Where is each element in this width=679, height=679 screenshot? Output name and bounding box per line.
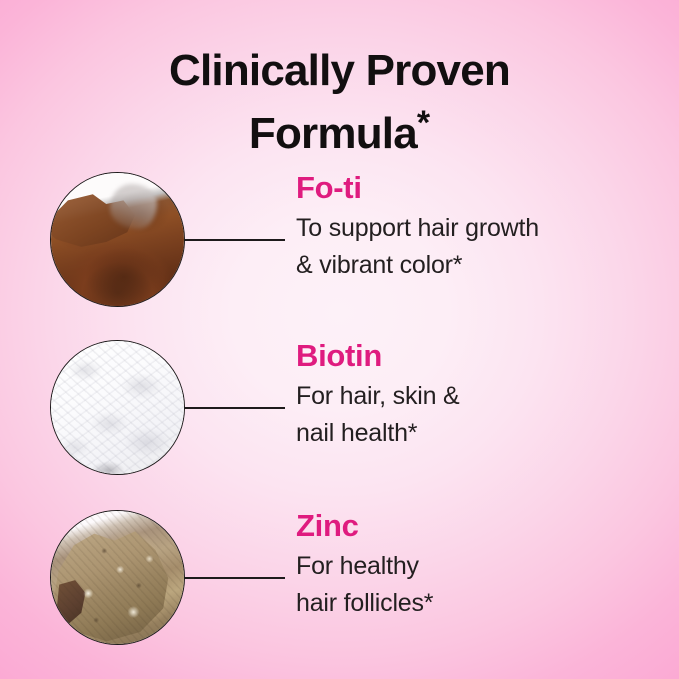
foti-text-block: Fo-ti To support hair growth & vibrant c…	[296, 170, 656, 284]
zinc-mineral-photo	[50, 510, 185, 645]
title-asterisk: *	[417, 104, 430, 142]
connector-line-biotin	[184, 407, 285, 409]
title-line-2-text: Formula	[249, 109, 417, 158]
ingredient-name-zinc: Zinc	[296, 508, 656, 544]
biotin-desc-line-2: nail health*	[296, 415, 656, 452]
ingredient-desc-zinc: For healthy hair follicles*	[296, 548, 656, 622]
title-line-1: Clinically Proven	[60, 44, 619, 97]
ingredient-row-biotin: Biotin For hair, skin & nail health*	[0, 338, 679, 478]
ingredient-infographic: Clinically Proven Formula* Fo-ti To supp…	[0, 0, 679, 679]
foti-desc-line-1: To support hair growth	[296, 210, 656, 247]
ingredient-desc-biotin: For hair, skin & nail health*	[296, 378, 656, 452]
zinc-desc-line-1: For healthy	[296, 548, 656, 585]
page-title: Clinically Proven Formula*	[0, 44, 679, 160]
foti-desc-line-2: & vibrant color*	[296, 247, 656, 284]
foti-bark-texture	[51, 173, 184, 306]
ingredient-row-foti: Fo-ti To support hair growth & vibrant c…	[0, 170, 679, 310]
connector-line-zinc	[184, 577, 285, 579]
zinc-desc-line-2: hair follicles*	[296, 585, 656, 622]
connector-line-foti	[184, 239, 285, 241]
ingredient-row-zinc: Zinc For healthy hair follicles*	[0, 508, 679, 648]
biotin-powder-texture	[51, 341, 184, 474]
zinc-mineral-texture	[51, 511, 184, 644]
zinc-text-block: Zinc For healthy hair follicles*	[296, 508, 656, 622]
ingredient-name-foti: Fo-ti	[296, 170, 656, 206]
biotin-powder-photo	[50, 340, 185, 475]
biotin-desc-line-1: For hair, skin &	[296, 378, 656, 415]
zinc-dark-crystal	[54, 580, 89, 625]
title-line-2: Formula*	[60, 97, 619, 160]
ingredient-name-biotin: Biotin	[296, 338, 656, 374]
biotin-text-block: Biotin For hair, skin & nail health*	[296, 338, 656, 452]
ingredient-desc-foti: To support hair growth & vibrant color*	[296, 210, 656, 284]
foti-bark-photo	[50, 172, 185, 307]
